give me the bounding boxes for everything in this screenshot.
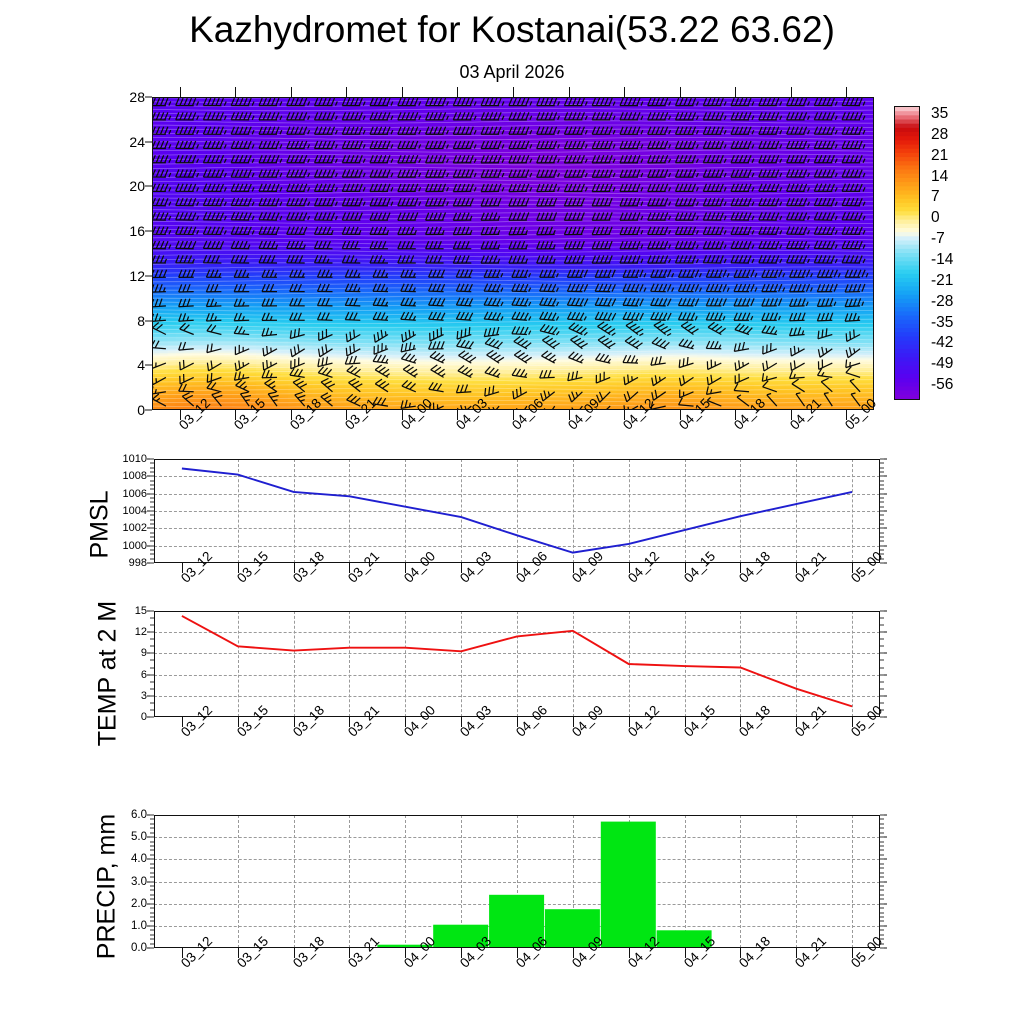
y-minor-tick [150, 916, 154, 917]
x-tick-mark-top [569, 87, 570, 97]
x-tick-mark-top [624, 87, 625, 97]
precip-axis-caption: PRECIP, mm [93, 792, 122, 982]
colorbar-tick-label: -21 [931, 272, 953, 290]
colorbar-tick-label: 28 [931, 126, 948, 144]
y-minor-tick-right [880, 908, 884, 909]
y-minor-tick [150, 850, 154, 851]
y-minor-tick [150, 943, 154, 944]
pmsl-panel: 998100010021004100610081010 03_1203_1503… [154, 459, 880, 563]
y-tick-label: 16 [129, 223, 152, 239]
y-minor-tick-right [880, 467, 884, 468]
y-minor-tick [150, 854, 154, 855]
y-minor-tick [150, 815, 154, 816]
y-minor-tick [150, 881, 154, 882]
y-minor-tick-right [880, 695, 884, 696]
pmsl-frame [154, 459, 880, 563]
y-minor-tick [150, 832, 154, 833]
y-minor-tick-right [880, 890, 884, 891]
y-minor-tick-right [880, 688, 884, 689]
y-minor-tick [150, 541, 154, 542]
y-minor-tick-right [880, 823, 884, 824]
y-minor-tick-right [880, 511, 884, 512]
y-minor-tick [150, 828, 154, 829]
y-minor-tick [150, 939, 154, 940]
y-minor-tick [150, 859, 154, 860]
y-minor-tick [150, 480, 154, 481]
y-minor-tick [150, 846, 154, 847]
y-minor-tick [150, 639, 154, 640]
colorbar-tick-label: -28 [931, 293, 953, 311]
y-minor-tick [150, 646, 154, 647]
y-minor-tick-right [880, 532, 884, 533]
y-minor-tick [150, 511, 154, 512]
y-tick-label: 24 [129, 134, 152, 150]
y-minor-tick [150, 524, 154, 525]
temperature-colorbar [894, 106, 920, 400]
y-minor-tick-right [880, 850, 884, 851]
y-tick-label: 0 [137, 402, 152, 418]
y-minor-tick-right [880, 832, 884, 833]
y-minor-tick-right [880, 489, 884, 490]
y-minor-tick [150, 554, 154, 555]
x-tick-mark-top [680, 87, 681, 97]
y-minor-tick-right [880, 841, 884, 842]
y-minor-tick [150, 532, 154, 533]
y-minor-tick-right [880, 894, 884, 895]
cross-section-frame [152, 97, 874, 410]
y-minor-tick [150, 660, 154, 661]
y-minor-tick [150, 930, 154, 931]
y-minor-tick [150, 872, 154, 873]
y-tick-label: 28 [129, 89, 152, 105]
y-minor-tick [150, 695, 154, 696]
y-minor-tick-right [880, 660, 884, 661]
y-minor-tick [150, 618, 154, 619]
y-minor-tick [150, 868, 154, 869]
y-minor-tick [150, 912, 154, 913]
x-tick-mark-top [180, 87, 181, 97]
y-minor-tick-right [880, 819, 884, 820]
y-minor-tick-right [880, 493, 884, 494]
temp-panel: 03691215 03_1203_1503_1803_2104_0004_030… [154, 611, 880, 717]
y-minor-tick [150, 934, 154, 935]
x-tick-mark-top [291, 87, 292, 97]
y-minor-tick [150, 467, 154, 468]
y-minor-tick-right [880, 702, 884, 703]
x-tick-mark-top [235, 87, 236, 97]
colorbar-tick-label: -56 [931, 376, 953, 394]
y-minor-tick-right [880, 632, 884, 633]
y-minor-tick-right [880, 681, 884, 682]
x-tick-mark-top [402, 87, 403, 97]
y-minor-tick [150, 550, 154, 551]
y-minor-tick-right [880, 506, 884, 507]
y-minor-tick [150, 681, 154, 682]
y-minor-tick [150, 632, 154, 633]
y-minor-tick [150, 528, 154, 529]
y-minor-tick [150, 841, 154, 842]
page-title: Kazhydromet for Kostanai(53.22 63.62) [0, 8, 1024, 52]
y-minor-tick-right [880, 921, 884, 922]
y-minor-tick [150, 493, 154, 494]
y-minor-tick [150, 899, 154, 900]
y-minor-tick [150, 489, 154, 490]
y-minor-tick [150, 863, 154, 864]
colorbar-tick-label: -42 [931, 334, 953, 352]
y-tick-label: 12 [129, 268, 152, 284]
y-tick-label: 4 [137, 357, 152, 373]
y-minor-tick-right [880, 480, 884, 481]
y-minor-tick [150, 948, 154, 949]
y-minor-tick-right [880, 872, 884, 873]
y-minor-tick-right [880, 519, 884, 520]
cross-section-panel: 0481216202428 03_1203_1503_1803_2104_000… [152, 97, 874, 410]
y-minor-tick [150, 502, 154, 503]
y-minor-tick-right [880, 854, 884, 855]
y-minor-tick-right [880, 515, 884, 516]
y-minor-tick-right [880, 625, 884, 626]
y-minor-tick-right [880, 674, 884, 675]
x-tick-mark-top [791, 87, 792, 97]
x-tick-mark-top [513, 87, 514, 97]
y-minor-tick [150, 515, 154, 516]
y-minor-tick [150, 459, 154, 460]
y-minor-tick-right [880, 815, 884, 816]
y-minor-tick [150, 688, 154, 689]
y-minor-tick-right [880, 611, 884, 612]
y-minor-tick [150, 908, 154, 909]
y-minor-tick [150, 921, 154, 922]
temp-axis-caption: TEMP at 2 M [94, 584, 123, 764]
y-minor-tick-right [880, 646, 884, 647]
y-minor-tick-right [880, 912, 884, 913]
y-minor-tick [150, 903, 154, 904]
colorbar-tick-label: -14 [931, 251, 953, 269]
y-tick-label: 8 [137, 313, 152, 329]
y-minor-tick-right [880, 485, 884, 486]
y-minor-tick-right [880, 653, 884, 654]
y-minor-tick [150, 625, 154, 626]
y-minor-tick-right [880, 667, 884, 668]
y-minor-tick [150, 472, 154, 473]
y-minor-tick [150, 506, 154, 507]
y-minor-tick-right [880, 863, 884, 864]
colorbar-tick-label: -35 [931, 314, 953, 332]
y-minor-tick [150, 498, 154, 499]
y-minor-tick [150, 837, 154, 838]
y-tick-label: 20 [129, 178, 152, 194]
colorbar-tick-label: 7 [931, 188, 940, 206]
precip-panel: 0.01.02.03.04.05.06.0 03_1203_1503_1803_… [154, 815, 880, 948]
y-minor-tick-right [880, 459, 884, 460]
y-minor-tick-right [880, 545, 884, 546]
y-minor-tick [150, 519, 154, 520]
x-tick-mark-top [346, 87, 347, 97]
y-minor-tick [150, 894, 154, 895]
colorbar-tick-label: -49 [931, 355, 953, 373]
y-minor-tick [150, 702, 154, 703]
y-minor-tick-right [880, 877, 884, 878]
weather-forecast-chart: Kazhydromet for Kostanai(53.22 63.62) 03… [0, 0, 1024, 1024]
y-minor-tick [150, 537, 154, 538]
temp-frame [154, 611, 880, 717]
y-minor-tick-right [880, 472, 884, 473]
y-minor-tick [150, 667, 154, 668]
y-minor-tick-right [880, 837, 884, 838]
y-minor-tick [150, 545, 154, 546]
precip-frame [154, 815, 880, 948]
y-minor-tick-right [880, 859, 884, 860]
y-minor-tick [150, 819, 154, 820]
y-minor-tick [150, 476, 154, 477]
y-minor-tick-right [880, 930, 884, 931]
y-minor-tick [150, 823, 154, 824]
y-minor-tick-right [880, 550, 884, 551]
y-minor-tick-right [880, 846, 884, 847]
y-minor-tick-right [880, 925, 884, 926]
y-minor-tick [150, 563, 154, 564]
y-minor-tick-right [880, 916, 884, 917]
colorbar-tick-label: 0 [931, 209, 940, 227]
x-tick-mark-top [735, 87, 736, 97]
y-minor-tick [150, 611, 154, 612]
y-minor-tick-right [880, 934, 884, 935]
pmsl-axis-caption: PMSL [86, 465, 115, 585]
x-tick-mark-top [457, 87, 458, 97]
y-minor-tick [150, 463, 154, 464]
y-minor-tick [150, 558, 154, 559]
y-minor-tick [150, 709, 154, 710]
y-minor-tick-right [880, 885, 884, 886]
x-tick-mark-top [846, 87, 847, 97]
y-minor-tick [150, 485, 154, 486]
y-minor-tick-right [880, 528, 884, 529]
y-minor-tick [150, 925, 154, 926]
y-minor-tick-right [880, 476, 884, 477]
colorbar-tick-label: 21 [931, 147, 948, 165]
y-minor-tick-right [880, 524, 884, 525]
colorbar-tick-label: 14 [931, 168, 948, 186]
y-minor-tick-right [880, 881, 884, 882]
y-minor-tick-right [880, 639, 884, 640]
y-minor-tick-right [880, 903, 884, 904]
y-minor-tick [150, 674, 154, 675]
y-minor-tick [150, 717, 154, 718]
y-minor-tick-right [880, 498, 884, 499]
y-minor-tick-right [880, 502, 884, 503]
y-minor-tick [150, 877, 154, 878]
colorbar-tick-label: -7 [931, 230, 945, 248]
y-minor-tick-right [880, 541, 884, 542]
y-minor-tick-right [880, 463, 884, 464]
y-minor-tick [150, 653, 154, 654]
y-minor-tick [150, 885, 154, 886]
y-minor-tick [150, 890, 154, 891]
y-minor-tick-right [880, 537, 884, 538]
colorbar-tick-label: 35 [931, 105, 948, 123]
y-minor-tick-right [880, 899, 884, 900]
y-minor-tick-right [880, 868, 884, 869]
y-minor-tick-right [880, 618, 884, 619]
y-minor-tick-right [880, 828, 884, 829]
page-subtitle: 03 April 2026 [0, 62, 1024, 83]
